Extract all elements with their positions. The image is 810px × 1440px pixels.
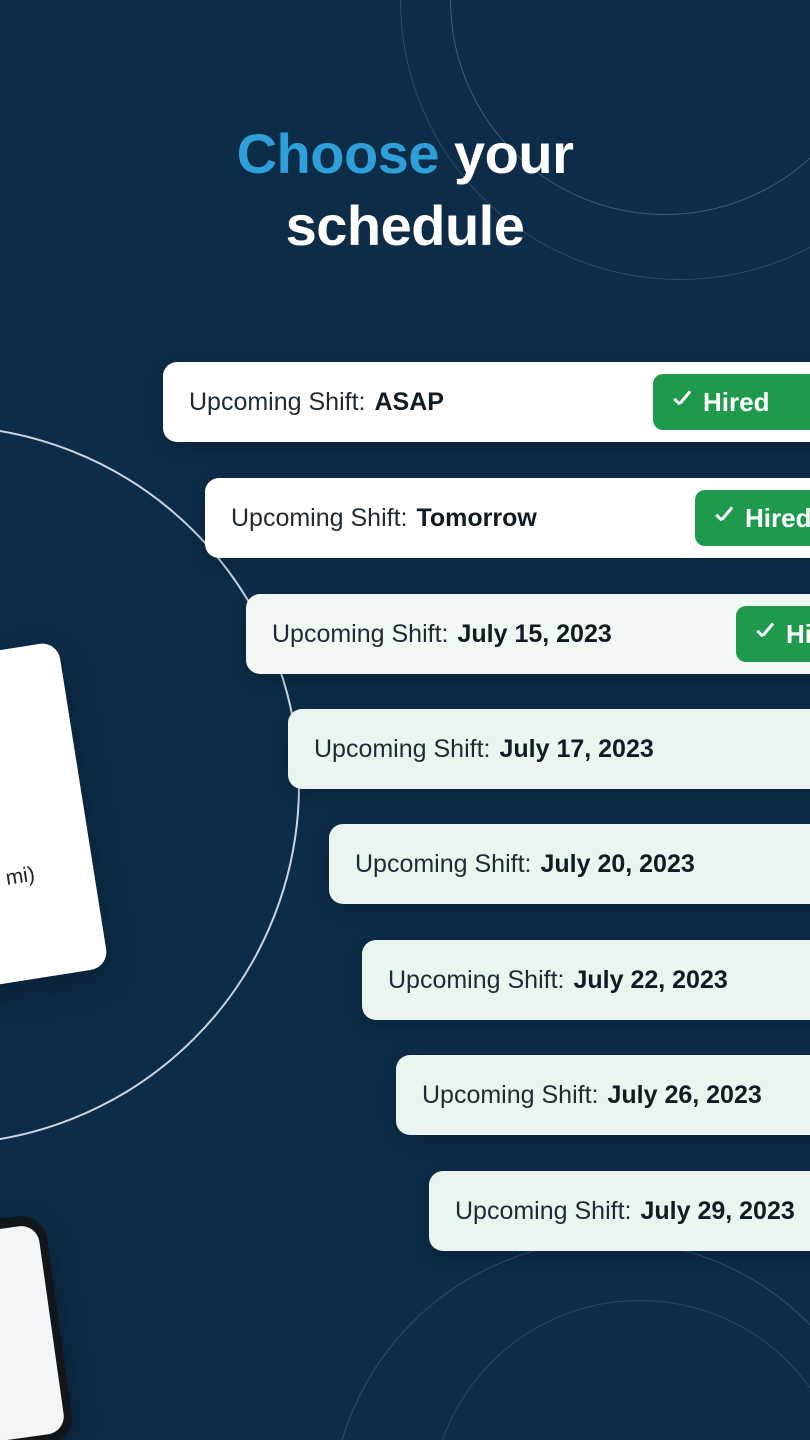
shift-card[interactable]: Upcoming Shift:TomorrowHired xyxy=(205,478,810,558)
page-title-accent: Choose xyxy=(237,122,439,185)
page-title-rest: your xyxy=(439,122,573,185)
page-title-line2: schedule xyxy=(286,194,525,257)
shift-card-value: July 29, 2023 xyxy=(640,1197,794,1226)
status-badge-hired: Hired xyxy=(653,374,810,430)
status-badge-hired: Hired xyxy=(736,606,810,662)
shift-card-value: ASAP xyxy=(374,388,443,417)
status-badge-label: Hired xyxy=(786,619,810,650)
shift-card-value: July 15, 2023 xyxy=(457,620,611,649)
check-icon xyxy=(671,391,693,413)
shift-card[interactable]: Upcoming Shift:July 22, 2023 xyxy=(362,940,810,1020)
shift-card-label: Upcoming Shift: xyxy=(355,850,531,879)
shift-card-value: July 20, 2023 xyxy=(540,850,694,879)
shift-card[interactable]: Upcoming Shift:July 26, 2023 xyxy=(396,1055,810,1135)
shift-card-value: July 22, 2023 xyxy=(573,966,727,995)
shift-card-label: Upcoming Shift: xyxy=(388,966,564,995)
shift-card-label: Upcoming Shift: xyxy=(314,735,490,764)
shift-card[interactable]: Upcoming Shift:July 15, 2023Hired xyxy=(246,594,810,674)
shift-card-value: July 17, 2023 xyxy=(499,735,653,764)
shift-card[interactable]: Upcoming Shift:July 20, 2023 xyxy=(329,824,810,904)
shift-card-label: Upcoming Shift: xyxy=(455,1197,631,1226)
check-icon xyxy=(754,623,776,645)
shift-card-list: Upcoming Shift:ASAPHiredUpcoming Shift:T… xyxy=(0,362,810,1262)
shift-card[interactable]: Upcoming Shift:July 17, 2023 xyxy=(288,709,810,789)
status-badge-label: Hired xyxy=(745,503,810,534)
shift-card-label: Upcoming Shift: xyxy=(231,504,407,533)
shift-card-label: Upcoming Shift: xyxy=(272,620,448,649)
page-title: Choose your schedule xyxy=(0,118,810,261)
shift-card-value: Tomorrow xyxy=(416,504,536,533)
shift-card[interactable]: Upcoming Shift:ASAPHired xyxy=(163,362,810,442)
shift-card-value: July 26, 2023 xyxy=(607,1081,761,1110)
status-badge-hired: Hired xyxy=(695,490,810,546)
shift-card-label: Upcoming Shift: xyxy=(422,1081,598,1110)
shift-card[interactable]: Upcoming Shift:July 29, 2023 xyxy=(429,1171,810,1251)
shift-card-label: Upcoming Shift: xyxy=(189,388,365,417)
check-icon xyxy=(713,507,735,529)
status-badge-label: Hired xyxy=(703,387,769,418)
